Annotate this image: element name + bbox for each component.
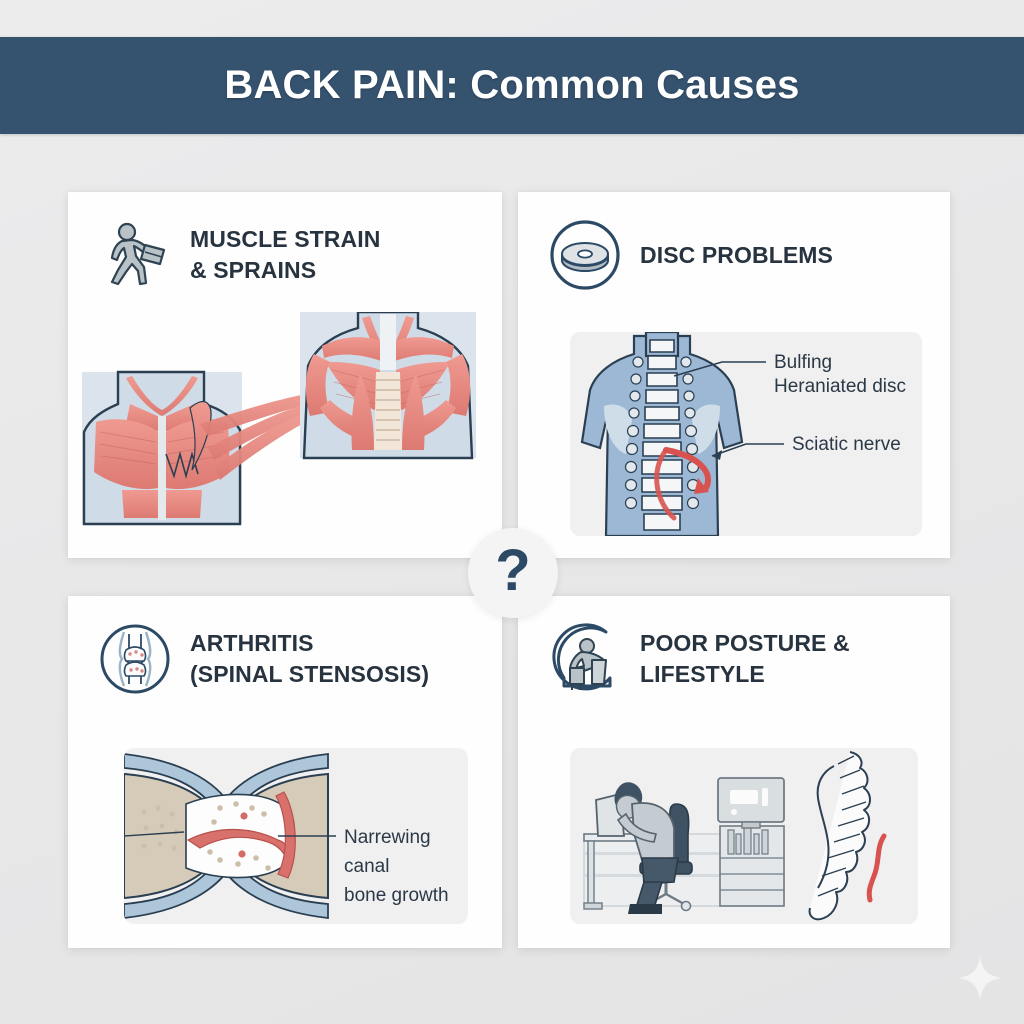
card-title: ARTHRITIS (SPINAL STENSOSIS) xyxy=(190,628,429,689)
label-sciatic-nerve: Sciatic nerve xyxy=(792,434,901,455)
card-poor-posture[interactable]: POOR POSTURE & LIFESTYLE xyxy=(518,596,950,948)
question-mark-badge: ? xyxy=(468,528,558,618)
back-muscle-anatomy-illustration xyxy=(82,312,488,544)
card-header: POOR POSTURE & LIFESTYLE xyxy=(518,596,950,696)
card-muscle-strain[interactable]: MUSCLE STRAIN & SPRAINS xyxy=(68,192,502,558)
card-title: MUSCLE STRAIN & SPRAINS xyxy=(190,224,380,285)
page-title: BACK PAIN: Common Causes xyxy=(224,63,799,108)
sparkle-decoration xyxy=(958,956,1002,1000)
card-disc-problems[interactable]: DISC PROBLEMS xyxy=(518,192,950,558)
desk-slouch-and-spine-illustration xyxy=(570,748,918,924)
label-bone-growth: bone growth xyxy=(344,885,449,906)
narrowing-joint-canal-illustration: Narrewing canal bone growth xyxy=(124,748,468,924)
question-mark-glyph: ? xyxy=(495,542,530,600)
header-banner: BACK PAIN: Common Causes xyxy=(0,37,1024,134)
spinal-disc-icon xyxy=(548,218,622,292)
joint-inflammation-icon xyxy=(98,622,172,696)
label-bulging: Bulfing xyxy=(774,352,832,373)
card-header: ARTHRITIS (SPINAL STENSOSIS) xyxy=(68,596,502,696)
slouched-desk-worker-icon xyxy=(548,622,622,696)
label-herniated-disc: Heraniated disc xyxy=(774,376,906,397)
card-title: POOR POSTURE & LIFESTYLE xyxy=(640,628,850,689)
label-narrowing: Narrewing xyxy=(344,827,431,848)
card-header: DISC PROBLEMS xyxy=(518,192,950,292)
person-lifting-box-icon xyxy=(98,218,172,292)
spine-torso-illustration: Bulfing Heraniated disc Sciatic nerve xyxy=(570,332,922,536)
card-arthritis[interactable]: ARTHRITIS (SPINAL STENSOSIS) xyxy=(68,596,502,948)
card-title: DISC PROBLEMS xyxy=(640,240,833,271)
card-header: MUSCLE STRAIN & SPRAINS xyxy=(68,192,502,292)
infographic-page: BACK PAIN: Common Causes MUSCLE STRAIN &… xyxy=(0,0,1024,1024)
label-canal: canal xyxy=(344,856,389,877)
